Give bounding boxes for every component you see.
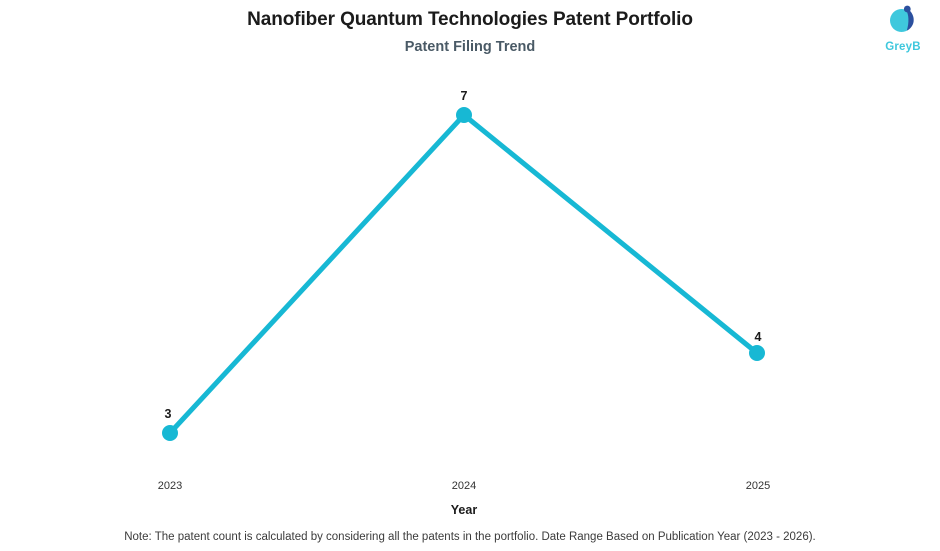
x-tick-2024: 2024 (424, 479, 504, 493)
x-axis-title: Year (424, 502, 504, 518)
greyb-droplet-logo-icon (874, 3, 932, 40)
brand-wordmark: GreyB (874, 41, 932, 53)
plot-area: 3 7 4 (0, 60, 940, 475)
data-label-2025: 4 (755, 330, 762, 344)
x-tick-2025: 2025 (718, 479, 798, 493)
x-tick-2023: 2023 (130, 479, 210, 493)
chart-page: Nanofiber Quantum Technologies Patent Po… (0, 0, 940, 551)
data-point-2024[interactable] (456, 107, 472, 123)
series-line-patent-filings (170, 115, 757, 433)
data-label-2023: 3 (165, 407, 172, 421)
brand-logo[interactable]: GreyB (874, 3, 932, 53)
data-point-2025[interactable] (749, 345, 765, 361)
data-label-2024: 7 (461, 89, 468, 103)
data-point-2023[interactable] (162, 425, 178, 441)
chart-note: Note: The patent count is calculated by … (0, 529, 940, 545)
page-title: Nanofiber Quantum Technologies Patent Po… (0, 8, 940, 32)
chart-subtitle: Patent Filing Trend (0, 37, 940, 57)
